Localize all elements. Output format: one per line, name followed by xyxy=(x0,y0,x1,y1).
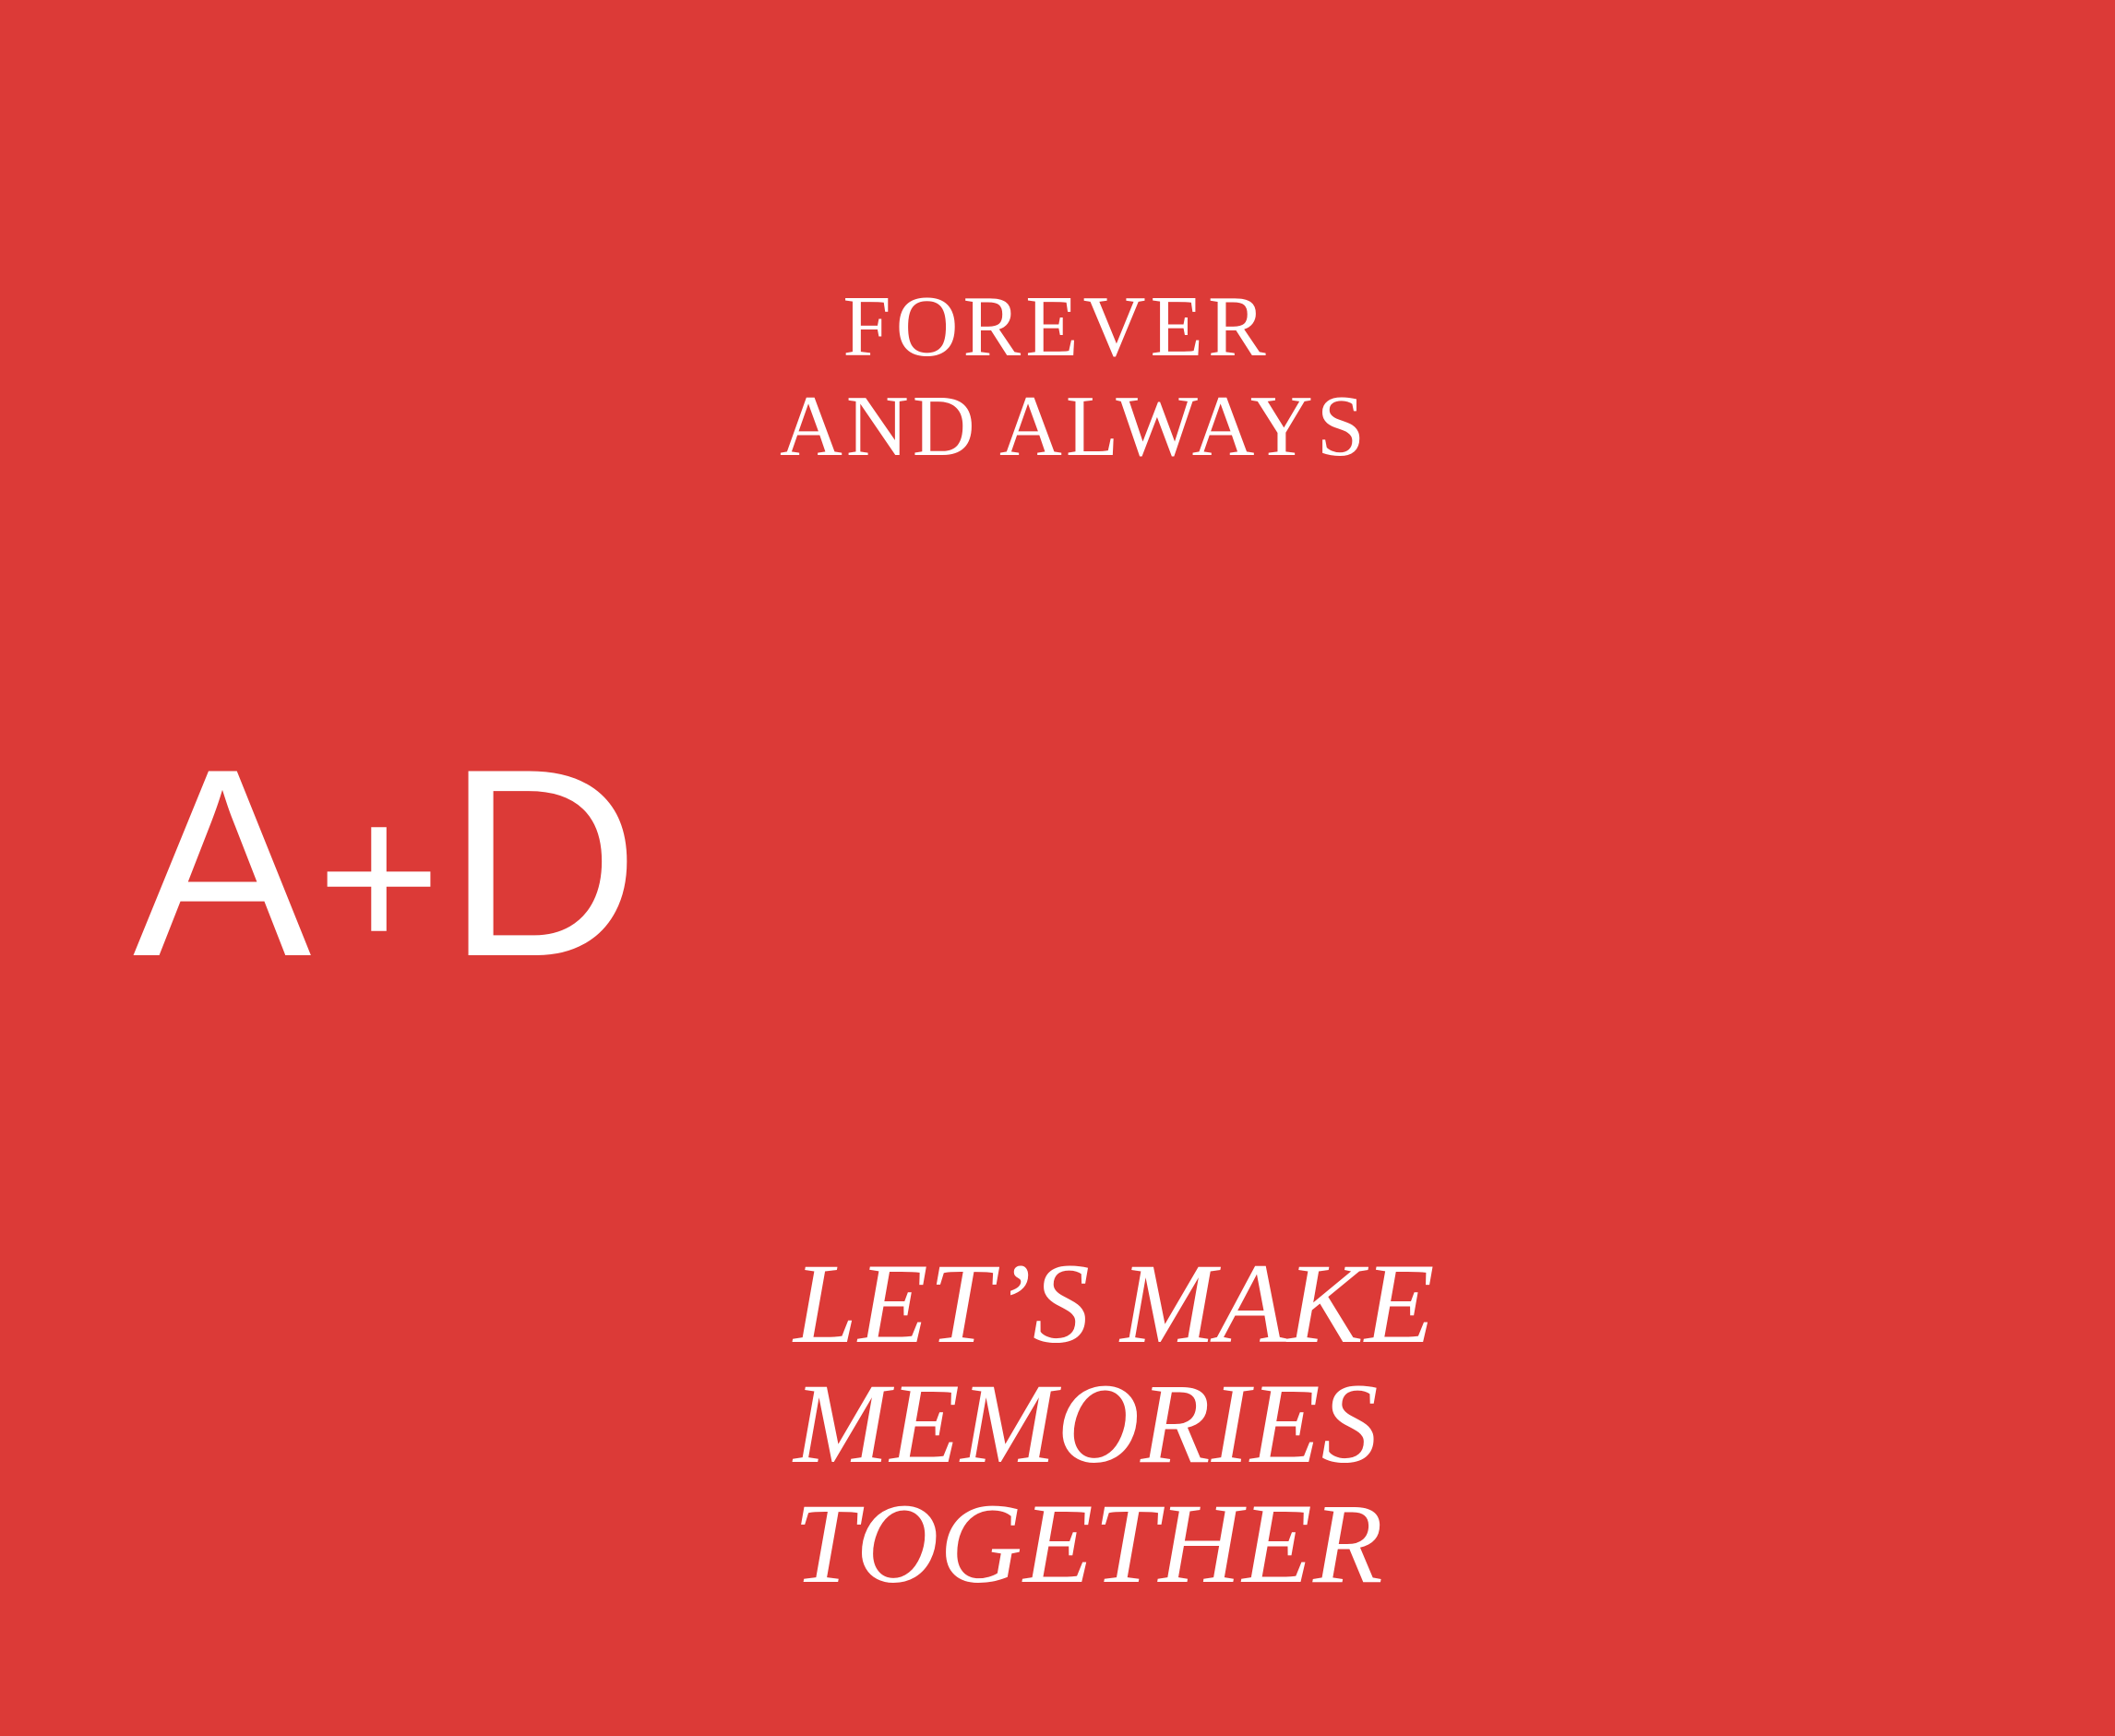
plus-icon: + xyxy=(311,743,446,1011)
tagline-block: LET’S MAKE MEMORIES TOGETHER xyxy=(794,1244,1347,1604)
monogram-initial-right: D xyxy=(447,729,639,997)
monogram-block: A+D xyxy=(133,729,639,1016)
monogram-initial-left: A xyxy=(133,729,311,997)
tagline-line-2: MEMORIES xyxy=(794,1364,1347,1484)
tagline-line-1: LET’S MAKE xyxy=(794,1244,1347,1364)
tagline-line-3: TOGETHER xyxy=(794,1484,1347,1604)
poster-canvas: FOREVER AND ALWAYS A+D LET’S MAKE MEMORI… xyxy=(0,0,2115,1736)
headline-block: FOREVER AND ALWAYS xyxy=(780,277,1333,476)
headline-line-2: AND ALWAYS xyxy=(780,377,1333,476)
headline-line-1: FOREVER xyxy=(780,277,1333,377)
